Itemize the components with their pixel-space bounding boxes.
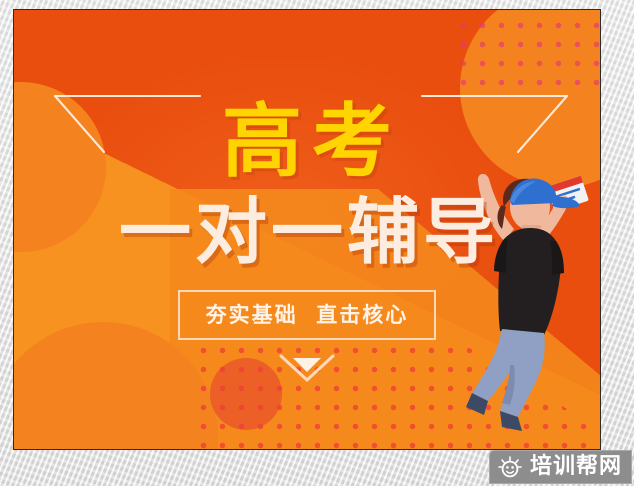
screenshot-canvas: 高考 一对一辅导 夯实基础 直击核心 培训帮 [0,0,634,486]
smiley-face-icon [498,456,522,478]
bracket-left-icon [52,92,202,164]
site-watermark: 培训帮网 [489,450,632,484]
jumping-student-illustration [444,149,594,449]
dot-grid-pink-icon [454,16,601,90]
promotional-poster: 高考 一对一辅导 夯实基础 直击核心 [13,9,601,450]
watermark-text: 培训帮网 [530,456,622,478]
